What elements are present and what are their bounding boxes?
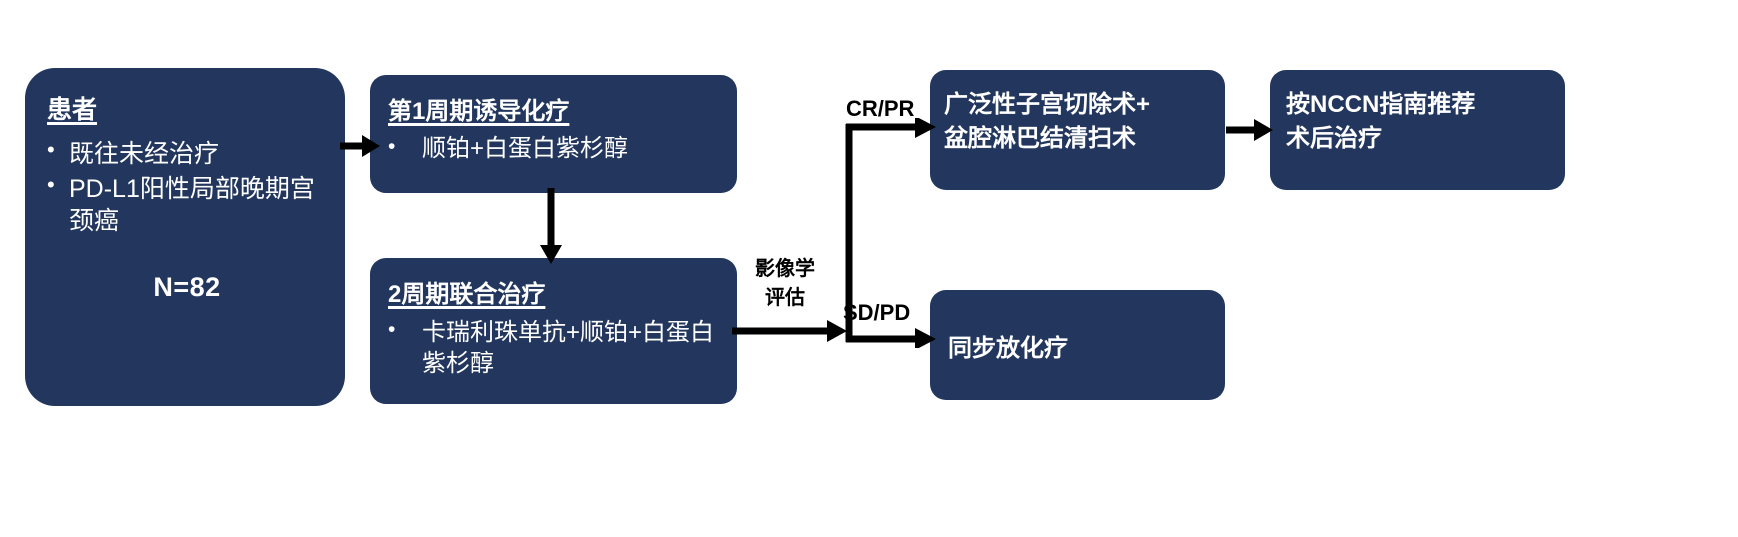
bullet-marker-icon: • — [388, 135, 422, 158]
node-induction-bullet-1-text: 顺铂+白蛋白紫杉醇 — [422, 135, 723, 164]
edge-label-imaging-line-1: 影像学 — [748, 255, 822, 284]
edge-label-imaging-line-2: 评估 — [748, 284, 822, 313]
node-patients-enrollment: N=82 — [47, 272, 327, 303]
node-patients-title: 患者 — [47, 90, 327, 126]
node-radical-surgery-line-1: 广泛性子宫切除术+ — [944, 88, 1213, 122]
arrow-combination-to-assessment — [732, 315, 847, 347]
node-patients-bullet-1-text: 既往未经治疗 — [69, 138, 327, 171]
edge-label-sd-pd: SD/PD — [843, 300, 910, 326]
node-patients-bullet-1: • 既往未经治疗 — [47, 138, 327, 171]
node-induction-bullet-1: • 顺铂+白蛋白紫杉醇 — [388, 135, 723, 164]
node-patients-bullet-2: • PD-L1阳性局部晚期宫颈癌 — [47, 173, 327, 238]
bullet-marker-icon: • — [47, 138, 69, 162]
node-radical-surgery[interactable]: 广泛性子宫切除术+ 盆腔淋巴结清扫术 — [930, 70, 1225, 190]
edge-label-cr-pr: CR/PR — [846, 96, 914, 122]
node-combination-bullet-1: • 卡瑞利珠单抗+顺铂+白蛋白紫杉醇 — [388, 318, 723, 379]
bullet-marker-icon: • — [47, 173, 69, 197]
node-concurrent-chemoradiation-label: 同步放化疗 — [948, 328, 1068, 363]
node-nccn-adjuvant-therapy[interactable]: 按NCCN指南推荐 术后治疗 — [1270, 70, 1565, 190]
node-combination-therapy[interactable]: 2周期联合治疗 • 卡瑞利珠单抗+顺铂+白蛋白紫杉醇 — [370, 258, 737, 404]
node-nccn-line-2: 术后治疗 — [1286, 122, 1553, 156]
node-nccn-line-1: 按NCCN指南推荐 — [1286, 88, 1553, 122]
node-patients[interactable]: 患者 • 既往未经治疗 • PD-L1阳性局部晚期宫颈癌 N=82 — [25, 68, 345, 406]
flowchart-canvas: 患者 • 既往未经治疗 • PD-L1阳性局部晚期宫颈癌 N=82 第1周期诱导… — [0, 0, 1738, 537]
node-induction-chemotherapy[interactable]: 第1周期诱导化疗 • 顺铂+白蛋白紫杉醇 — [370, 75, 737, 193]
node-induction-title: 第1周期诱导化疗 — [388, 91, 723, 126]
arrow-induction-to-combination — [535, 188, 567, 264]
node-concurrent-chemoradiation[interactable]: 同步放化疗 — [930, 290, 1225, 400]
node-patients-bullet-2-text: PD-L1阳性局部晚期宫颈癌 — [69, 173, 327, 238]
node-combination-title: 2周期联合治疗 — [388, 274, 723, 309]
arrow-surgery-to-nccn — [1226, 114, 1274, 146]
node-radical-surgery-line-2: 盆腔淋巴结清扫术 — [944, 122, 1213, 156]
edge-label-imaging-assessment: 影像学 评估 — [748, 255, 822, 313]
node-combination-bullet-1-text: 卡瑞利珠单抗+顺铂+白蛋白紫杉醇 — [422, 318, 723, 379]
arrow-patients-to-induction — [340, 130, 380, 162]
bullet-marker-icon: • — [388, 318, 422, 341]
